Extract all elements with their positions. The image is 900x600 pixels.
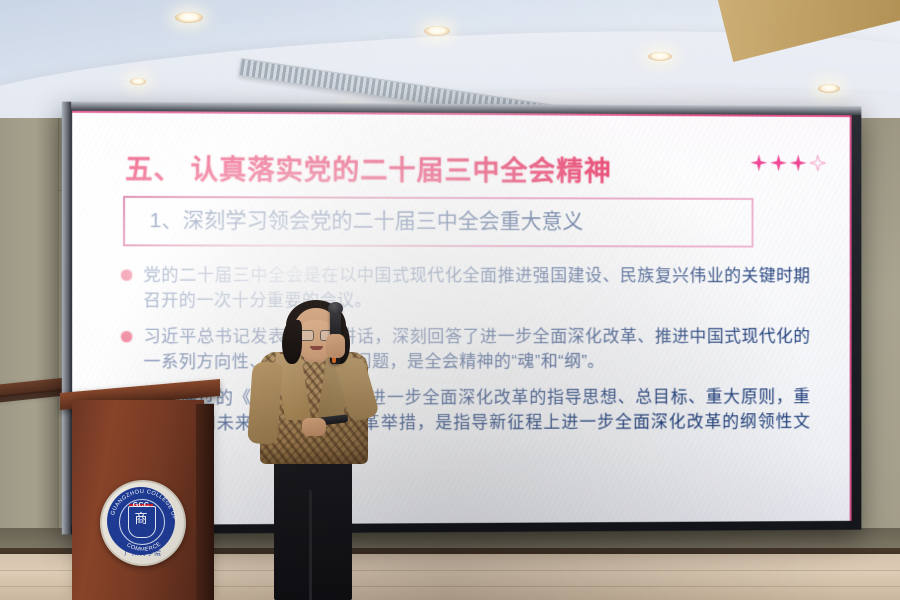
slide-bullet-item: 习近平总书记发表的重要讲话，深刻回答了进一步全面深化改革、推进中国式现代化的一系… [121, 324, 810, 375]
podium: GUANGZHOU COLLEGE OF COMMERCE GCC 商 广州商学… [72, 400, 204, 600]
sparkle-icon [770, 154, 787, 171]
emblem-glyph: 商 [128, 512, 154, 525]
sparkle-decoration-group [751, 154, 827, 171]
speaker-hair-side [282, 320, 302, 364]
slide-bullet-item: 全会通过的《决定》，明确了进一步全面深化改革的指导思想、总目标、重大原则，重大举… [121, 384, 810, 461]
speaker-hand-holding-mic [326, 334, 345, 358]
screen-frame-left [62, 102, 71, 535]
speaker-trousers [274, 450, 352, 600]
sparkle-icon [790, 154, 807, 171]
speaker-presenter [246, 300, 396, 600]
ceiling-downlight [818, 84, 840, 93]
emblem-chinese-name: 广州商学院 [102, 547, 184, 557]
sparkle-icon [751, 154, 768, 171]
sparkle-outline-icon [809, 155, 826, 172]
slide-bullet-text: 习近平总书记发表的重要讲话，深刻回答了进一步全面深化改革、推进中国式现代化的一系… [143, 324, 810, 375]
speaker-mouth [310, 346, 323, 350]
slide-bullet-item: 党的二十届三中全会是在以中国式现代化全面推进强国建设、民族复兴伟业的关键时期召开… [121, 262, 810, 313]
slide-bullet-text: 全会通过的《决定》，明确了进一步全面深化改革的指导思想、总目标、重大原则，重大举… [143, 384, 810, 461]
slide-title: 五、 认真落实党的二十届三中全会精神 [125, 147, 612, 188]
speaker-trouser-seam [309, 490, 312, 600]
wall-pilaster [0, 118, 58, 570]
lecture-hall-photo: 五、 认真落实党的二十届三中全会精神 1、深 [0, 0, 900, 600]
speaker-hand-holding-clicker [302, 418, 326, 436]
speaker-arm [247, 361, 283, 445]
ceiling-downlight [175, 12, 203, 23]
ceiling-downlight [424, 26, 450, 36]
slide-bullet-list: 党的二十届三中全会是在以中国式现代化全面推进强国建设、民族复兴伟业的关键时期召开… [121, 262, 810, 472]
emblem-abbr: GCC [128, 502, 154, 509]
slide-subtitle: 1、深刻学习领会党的二十届三中全会重大意义 [150, 204, 584, 235]
microphone-head-icon [328, 302, 343, 315]
bullet-dot-icon [121, 270, 132, 281]
bullet-dot-icon [121, 331, 132, 342]
podium-side-panel [196, 404, 214, 600]
ceiling-downlight [130, 78, 146, 85]
wall-panel-seam [58, 118, 59, 570]
slide-bullet-text: 党的二十届三中全会是在以中国式现代化全面推进强国建设、民族复兴伟业的关键时期召开… [143, 263, 810, 314]
ceiling-downlight [648, 52, 672, 61]
college-emblem: GUANGZHOU COLLEGE OF COMMERCE GCC 商 广州商学… [100, 480, 186, 566]
